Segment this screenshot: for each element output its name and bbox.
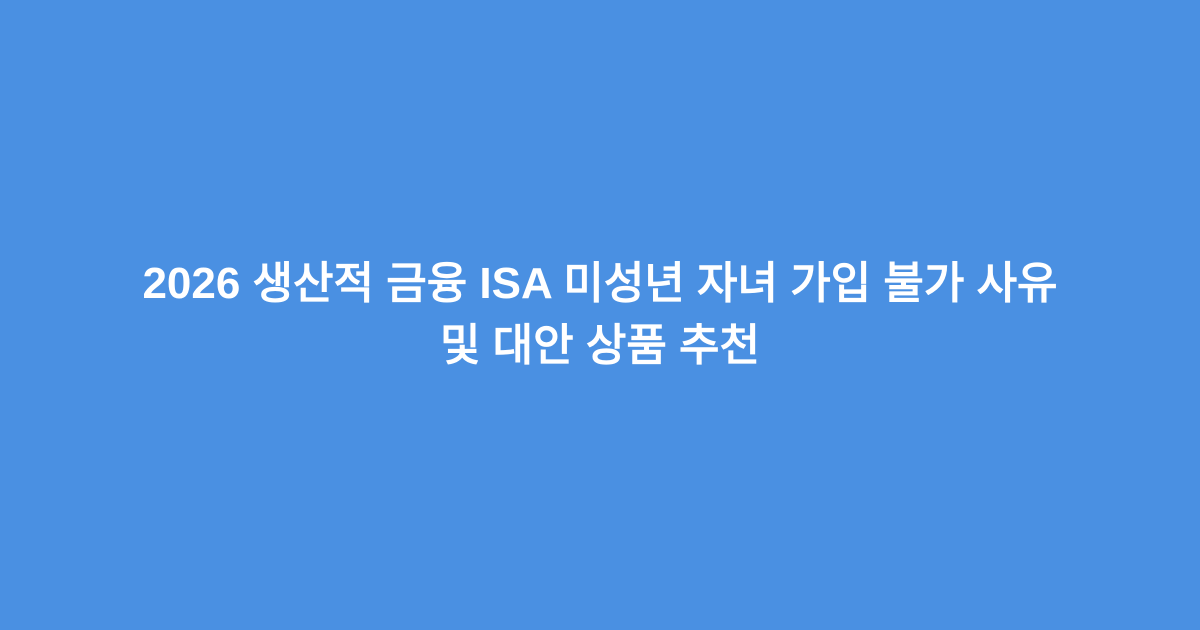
- title-card: 2026 생산적 금융 ISA 미성년 자녀 가입 불가 사유 및 대안 상품 …: [0, 0, 1200, 630]
- page-title: 2026 생산적 금융 ISA 미성년 자녀 가입 불가 사유 및 대안 상품 …: [67, 253, 1133, 377]
- page-title-line-2: 및 대안 상품 추천: [440, 315, 760, 377]
- page-title-line-1: 2026 생산적 금융 ISA 미성년 자녀 가입 불가 사유: [142, 253, 1057, 315]
